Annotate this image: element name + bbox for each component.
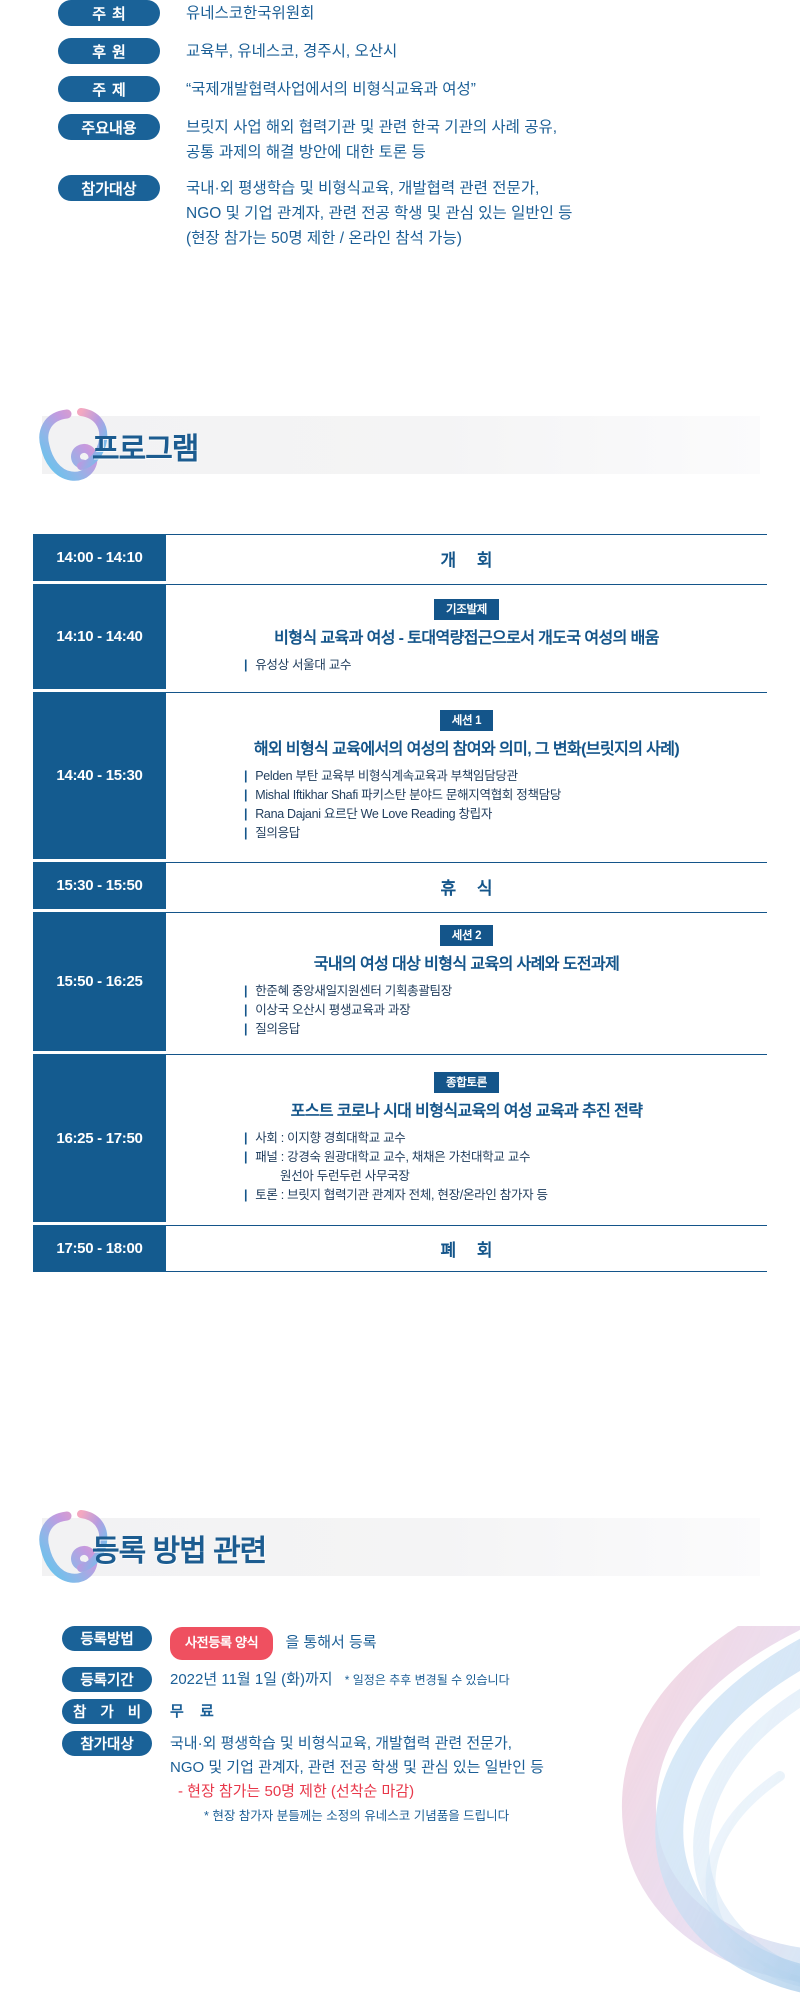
program-title: 개 회 [166, 546, 767, 571]
info-row: 주제“국제개발협력사업에서의 비형식교육과 여성” [0, 76, 800, 102]
program-speaker: |질의응답 [244, 824, 767, 843]
pre-registration-form-button[interactable]: 사전등록 양식 [170, 1627, 273, 1660]
program-speaker-text: Pelden 부탄 교육부 비형식계속교육과 부책임담당관 [255, 767, 518, 786]
event-info-block: 주최유네스코한국위원회후원교육부, 유네스코, 경주시, 오산시주제“국제개발협… [0, 0, 800, 261]
info-label-pill: 주제 [58, 76, 160, 102]
poster-page: 주최유네스코한국위원회후원교육부, 유네스코, 경주시, 오산시주제“국제개발협… [0, 0, 800, 2006]
info-row: 주요내용브릿지 사업 해외 협력기관 및 관련 한국 기관의 사례 공유,공통 … [0, 114, 800, 165]
registration-period-note: * 일정은 추후 변경될 수 있습니다 [345, 1673, 510, 1687]
program-badge-wrap: 종합토론 [166, 1072, 767, 1093]
program-speaker-text: Rana Dajani 요르단 We Love Reading 창립자 [255, 805, 492, 824]
bullet-bar-icon: | [244, 1020, 247, 1039]
program-title: 국내의 여성 대상 비형식 교육의 사례와 도전과제 [166, 950, 767, 974]
info-label-pill: 후원 [58, 38, 160, 64]
program-body: 세션 2국내의 여성 대상 비형식 교육의 사례와 도전과제|한준혜 중앙새일지… [166, 912, 767, 1051]
program-speaker-text: 토론 : 브릿지 협력기관 관계자 전체, 현장/온라인 참가자 등 [255, 1186, 548, 1205]
program-title: 비형식 교육과 여성 - 토대역량접근으로서 개도국 여성의 배움 [166, 624, 767, 648]
info-value: “국제개발협력사업에서의 비형식교육과 여성” [186, 76, 476, 102]
program-speaker: |유성상 서울대 교수 [244, 656, 767, 675]
registration-period-value: 2022년 11월 1일 (화)까지 [170, 1671, 333, 1688]
registration-method-value: 사전등록 양식 을 통해서 등록 [170, 1626, 377, 1660]
program-time: 15:30 - 15:50 [33, 862, 166, 909]
program-row: 15:30 - 15:50휴 식 [33, 862, 767, 909]
program-time: 14:40 - 15:30 [33, 692, 166, 859]
registration-fee-value: 무 료 [170, 1703, 220, 1720]
program-time: 14:10 - 14:40 [33, 584, 166, 689]
program-speaker: |질의응답 [244, 1020, 767, 1039]
registration-method-row: 등록방법 사전등록 양식 을 통해서 등록 [0, 1626, 800, 1660]
bullet-bar-icon: | [244, 1186, 247, 1205]
info-label-pill: 주최 [58, 0, 160, 26]
info-value-line: 국내·외 평생학습 및 비형식교육, 개발협력 관련 전문가, [186, 176, 572, 201]
bullet-bar-icon: | [244, 824, 247, 843]
program-title: 포스트 코로나 시대 비형식교육의 여성 교육과 추진 전략 [166, 1097, 767, 1121]
program-title: 휴 식 [166, 874, 767, 899]
program-speaker-list: |한준혜 중앙새일지원센터 기획총괄팀장|이상국 오산시 평생교육과 과장|질의… [166, 982, 767, 1039]
audience-gift-note: * 현장 참가자 분들께는 소정의 유네스코 기념품을 드립니다 [170, 1804, 544, 1828]
bullet-bar-icon: | [244, 786, 247, 805]
bullet-bar-icon: | [244, 767, 247, 786]
info-value-line: 공통 과제의 해결 방안에 대한 토론 등 [186, 140, 557, 165]
registration-fee-label: 참 가 비 [62, 1699, 152, 1724]
program-badge: 기조발제 [434, 599, 499, 620]
program-speaker-list: |Pelden 부탄 교육부 비형식계속교육과 부책임담당관|Mishal If… [166, 767, 767, 843]
program-table: 14:00 - 14:10개 회14:10 - 14:40기조발제비형식 교육과… [33, 534, 767, 1272]
audience-line: 국내·외 평생학습 및 비형식교육, 개발협력 관련 전문가, [170, 1732, 544, 1756]
info-value: 교육부, 유네스코, 경주시, 오산시 [186, 38, 397, 64]
registration-section-header: 등록 방법 관련 [42, 1518, 760, 1576]
bullet-bar-icon: | [244, 805, 247, 824]
program-speaker-list: |사회 : 이지향 경희대학교 교수|패널 : 강경숙 원광대학교 교수, 채채… [166, 1129, 767, 1205]
program-speaker-text: 유성상 서울대 교수 [255, 656, 351, 675]
program-speaker-sub: 원선아 두런두런 사무국장 [244, 1167, 767, 1186]
program-speaker-text: 질의응답 [255, 1020, 300, 1039]
info-row: 주최유네스코한국위원회 [0, 0, 800, 26]
bullet-bar-icon: | [244, 1001, 247, 1020]
program-row: 17:50 - 18:00폐 회 [33, 1225, 767, 1272]
registration-period-value-wrap: 2022년 11월 1일 (화)까지 * 일정은 추후 변경될 수 있습니다 [170, 1667, 510, 1692]
bullet-bar-icon: | [244, 656, 247, 675]
program-badge: 세션 2 [440, 925, 494, 946]
program-time: 16:25 - 17:50 [33, 1054, 166, 1222]
registration-period-label: 등록기간 [62, 1667, 152, 1692]
bullet-bar-icon: | [244, 1148, 247, 1167]
program-badge-wrap: 세션 1 [166, 710, 767, 731]
info-row: 참가대상국내·외 평생학습 및 비형식교육, 개발협력 관련 전문가,NGO 및… [0, 175, 800, 251]
program-speaker-text: 질의응답 [255, 824, 300, 843]
program-section-title: 프로그램 [92, 424, 198, 468]
info-value: 유네스코한국위원회 [186, 0, 314, 26]
info-value-line: “국제개발협력사업에서의 비형식교육과 여성” [186, 77, 476, 102]
info-label-pill: 주요내용 [58, 114, 160, 140]
program-speaker: |한준혜 중앙새일지원센터 기획총괄팀장 [244, 982, 767, 1001]
info-value-line: 유네스코한국위원회 [186, 1, 314, 26]
program-title: 폐 회 [166, 1236, 767, 1261]
program-speaker: |토론 : 브릿지 협력기관 관계자 전체, 현장/온라인 참가자 등 [244, 1186, 767, 1205]
program-row: 14:00 - 14:10개 회 [33, 534, 767, 581]
program-speaker: |Mishal Iftikhar Shafi 파키스탄 분야드 문해지역협회 정… [244, 786, 767, 805]
program-speaker-text: 이상국 오산시 평생교육과 과장 [255, 1001, 410, 1020]
program-row: 14:10 - 14:40기조발제비형식 교육과 여성 - 토대역량접근으로서 … [33, 584, 767, 689]
info-value-line: (현장 참가는 50명 제한 / 온라인 참석 가능) [186, 226, 572, 251]
program-badge: 세션 1 [440, 710, 494, 731]
program-body: 휴 식 [166, 862, 767, 909]
program-row: 15:50 - 16:25세션 2국내의 여성 대상 비형식 교육의 사례와 도… [33, 912, 767, 1051]
program-section-header: 프로그램 [42, 416, 760, 474]
info-label-pill: 참가대상 [58, 175, 160, 201]
program-speaker: |사회 : 이지향 경희대학교 교수 [244, 1129, 767, 1148]
bullet-bar-icon: | [244, 982, 247, 1001]
program-speaker: |패널 : 강경숙 원광대학교 교수, 채채은 가천대학교 교수 [244, 1148, 767, 1167]
program-speaker: |Rana Dajani 요르단 We Love Reading 창립자 [244, 805, 767, 824]
program-badge-wrap: 세션 2 [166, 925, 767, 946]
program-speaker: |Pelden 부탄 교육부 비형식계속교육과 부책임담당관 [244, 767, 767, 786]
program-speaker-text: 한준혜 중앙새일지원센터 기획총괄팀장 [255, 982, 452, 1001]
program-speaker-text: Mishal Iftikhar Shafi 파키스탄 분야드 문해지역협회 정책… [255, 786, 561, 805]
info-value-line: NGO 및 기업 관계자, 관련 전공 학생 및 관심 있는 일반인 등 [186, 201, 572, 226]
program-speaker-text: 패널 : 강경숙 원광대학교 교수, 채채은 가천대학교 교수 [255, 1148, 530, 1167]
registration-method-label: 등록방법 [62, 1626, 152, 1651]
info-row: 후원교육부, 유네스코, 경주시, 오산시 [0, 38, 800, 64]
program-title: 해외 비형식 교육에서의 여성의 참여와 의미, 그 변화(브릿지의 사례) [166, 735, 767, 759]
program-speaker: |이상국 오산시 평생교육과 과장 [244, 1001, 767, 1020]
program-body: 종합토론포스트 코로나 시대 비형식교육의 여성 교육과 추진 전략|사회 : … [166, 1054, 767, 1222]
registration-method-suffix: 을 통해서 등록 [285, 1634, 376, 1651]
registration-fee-row: 참 가 비 무 료 [0, 1699, 800, 1724]
program-body: 폐 회 [166, 1225, 767, 1272]
info-value-line: 교육부, 유네스코, 경주시, 오산시 [186, 39, 397, 64]
program-body: 기조발제비형식 교육과 여성 - 토대역량접근으로서 개도국 여성의 배움|유성… [166, 584, 767, 689]
bullet-bar-icon: | [244, 1129, 247, 1148]
program-time: 14:00 - 14:10 [33, 534, 166, 581]
registration-section-title: 등록 방법 관련 [92, 1526, 266, 1570]
registration-audience-row: 참가대상 국내·외 평생학습 및 비형식교육, 개발협력 관련 전문가,NGO … [0, 1731, 800, 1828]
info-value: 브릿지 사업 해외 협력기관 및 관련 한국 기관의 사례 공유,공통 과제의 … [186, 114, 557, 165]
program-body: 세션 1해외 비형식 교육에서의 여성의 참여와 의미, 그 변화(브릿지의 사… [166, 692, 767, 859]
program-row: 14:40 - 15:30세션 1해외 비형식 교육에서의 여성의 참여와 의미… [33, 692, 767, 859]
program-body: 개 회 [166, 534, 767, 581]
audience-line: NGO 및 기업 관계자, 관련 전공 학생 및 관심 있는 일반인 등 [170, 1756, 544, 1780]
registration-period-row: 등록기간 2022년 11월 1일 (화)까지 * 일정은 추후 변경될 수 있… [0, 1667, 800, 1692]
program-badge-wrap: 기조발제 [166, 599, 767, 620]
registration-audience-value: 국내·외 평생학습 및 비형식교육, 개발협력 관련 전문가,NGO 및 기업 … [170, 1731, 544, 1828]
info-value-line: 브릿지 사업 해외 협력기관 및 관련 한국 기관의 사례 공유, [186, 115, 557, 140]
registration-audience-label: 참가대상 [62, 1731, 152, 1756]
audience-limit-note: - 현장 참가는 50명 제한 (선착순 마감) [170, 1780, 544, 1804]
registration-block: 등록방법 사전등록 양식 을 통해서 등록 등록기간 2022년 11월 1일 … [0, 1626, 800, 1835]
program-time: 17:50 - 18:00 [33, 1225, 166, 1272]
info-value: 국내·외 평생학습 및 비형식교육, 개발협력 관련 전문가,NGO 및 기업 … [186, 175, 572, 251]
program-speaker-list: |유성상 서울대 교수 [166, 656, 767, 675]
program-badge: 종합토론 [434, 1072, 499, 1093]
program-row: 16:25 - 17:50종합토론포스트 코로나 시대 비형식교육의 여성 교육… [33, 1054, 767, 1222]
program-speaker-text: 사회 : 이지향 경희대학교 교수 [255, 1129, 405, 1148]
program-time: 15:50 - 16:25 [33, 912, 166, 1051]
